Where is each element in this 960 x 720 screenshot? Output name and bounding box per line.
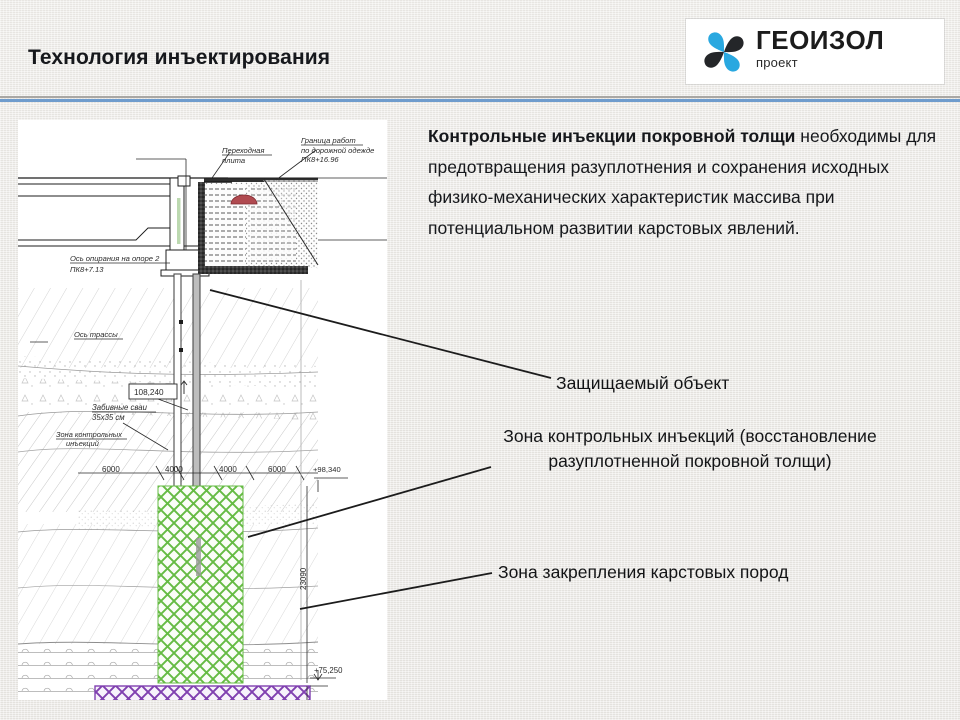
control-injection-zone-shape xyxy=(158,486,243,683)
label-work-boundary-1: Граница работ xyxy=(301,136,356,145)
dim-6000-b: 6000 xyxy=(268,465,286,474)
elev-top: +98,340 xyxy=(313,465,341,474)
dim-4000-a: 4000 xyxy=(165,465,183,474)
label-route-axis: Ось трассы xyxy=(74,330,118,339)
logo-subtitle: проект xyxy=(756,56,884,70)
paragraph-lead: Контрольные инъекции покровной толщи xyxy=(428,126,795,146)
label-support-axis-station: ПК8+7.13 xyxy=(70,265,104,274)
label-driven-piles-2: 35х35 см xyxy=(92,413,125,422)
callout-karst-fixation-zone: Зона закрепления карстовых пород xyxy=(498,560,788,585)
main-paragraph: Контрольные инъекции покровной толщи нео… xyxy=(428,121,950,243)
label-elevation-box: 108,240 xyxy=(134,388,164,397)
karst-fixation-zone-shape xyxy=(95,686,310,700)
logo-name: ГЕОИЗОЛ xyxy=(756,25,884,55)
dim-4000-b: 4000 xyxy=(219,465,237,474)
page-title: Технология инъектирования xyxy=(28,46,330,70)
label-control-zone-1: Зона контрольных xyxy=(56,430,122,439)
label-driven-piles-1: Забивные сваи xyxy=(92,403,148,412)
dim-vertical-green: 23090 xyxy=(299,567,308,590)
callout-control-injection-zone: Зона контрольных инъекций (восстановлени… xyxy=(470,424,910,474)
elev-mid: +75,250 xyxy=(314,666,343,675)
geoizol-droplet-icon xyxy=(700,28,748,76)
callout-protected-object: Защищаемый объект xyxy=(556,371,729,396)
brand-logo: ГЕОИЗОЛ проект xyxy=(686,19,944,84)
label-control-zone-2: инъекций xyxy=(66,439,99,448)
header-divider-gray xyxy=(0,96,960,98)
label-work-boundary-3: ПК8+16.96 xyxy=(301,155,339,164)
abutment-embankment xyxy=(198,178,318,274)
label-work-boundary-2: по дорожной одежде xyxy=(301,146,374,155)
logo-wordmark: ГЕОИЗОЛ проект xyxy=(756,25,884,70)
slide-header: Технология инъектирования ГЕОИЗОЛ проект xyxy=(0,0,960,98)
header-divider-blue xyxy=(0,99,960,102)
label-transition-slab-1: Переходная xyxy=(222,146,264,155)
technical-drawing: Ось опирания на опоре 2 ПК8+7.13 Ось тра… xyxy=(18,120,387,700)
label-support-axis: Ось опирания на опоре 2 xyxy=(70,254,160,263)
dim-6000-a: 6000 xyxy=(102,465,120,474)
label-transition-slab-2: плита xyxy=(222,156,245,165)
drawing-canvas: Ось опирания на опоре 2 ПК8+7.13 Ось тра… xyxy=(18,120,387,700)
